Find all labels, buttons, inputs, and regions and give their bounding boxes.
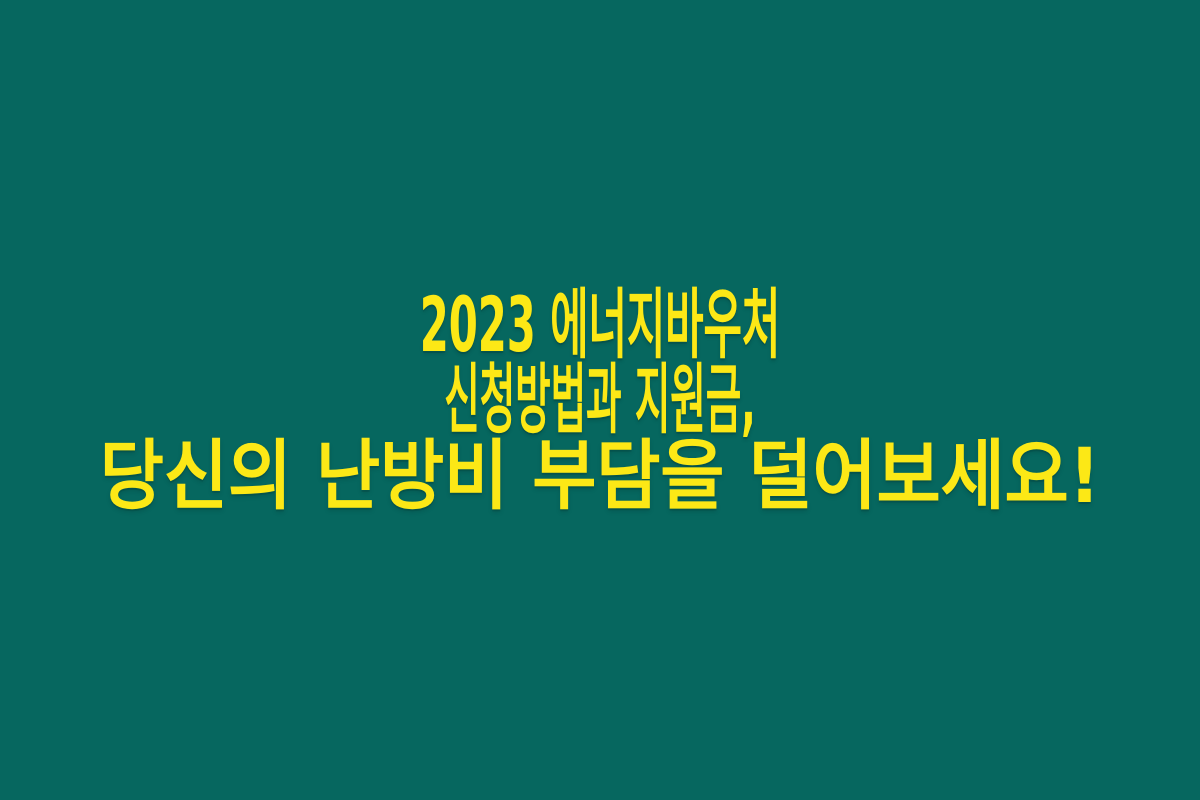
headline-line-1: 2023 에너지바우처 <box>270 287 930 362</box>
banner-canvas: 2023 에너지바우처 신청방법과 지원금, 당신의 난방비 부담을 덜어보세요… <box>0 0 1200 800</box>
page-title: 2023 에너지바우처 신청방법과 지원금, 당신의 난방비 부담을 덜어보세요… <box>0 287 1200 513</box>
headline-line-3: 당신의 난방비 부담을 덜어보세요! <box>49 438 1151 513</box>
headline-line-2: 신청방법과 지원금, <box>295 362 905 437</box>
